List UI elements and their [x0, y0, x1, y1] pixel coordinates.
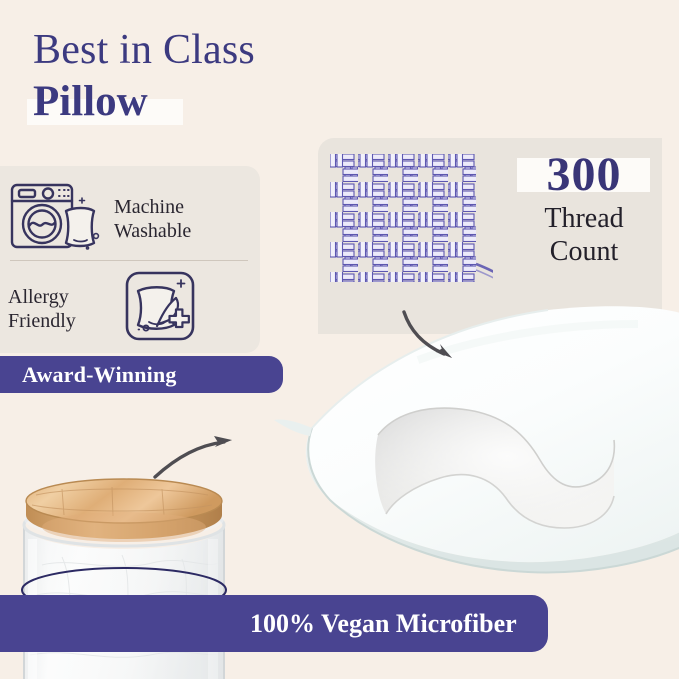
- fabric-weave-swatch-icon: [328, 152, 493, 300]
- thread-count-word-line1: Thread: [514, 202, 654, 235]
- award-winning-banner: Award-Winning: [0, 356, 283, 393]
- allergy-friendly-label-line1: Allergy: [8, 285, 124, 309]
- machine-washable-label-line2: Washable: [114, 219, 191, 243]
- infographic-canvas: 300 Thread Count Best in Class Pillow: [0, 0, 679, 679]
- feature-divider: [10, 260, 248, 261]
- allergy-pillow-feather-icon: [124, 270, 196, 347]
- thread-count-number: 300: [514, 148, 654, 202]
- pillow-image: [218, 300, 679, 610]
- feature-allergy-friendly: Allergy Friendly: [8, 270, 196, 347]
- thread-count-word-line2: Count: [514, 235, 654, 268]
- vegan-microfiber-label: 100% Vegan Microfiber: [250, 609, 517, 639]
- headline-line-2: Pillow: [33, 78, 453, 125]
- vegan-microfiber-banner: 100% Vegan Microfiber: [0, 595, 548, 652]
- washing-machine-icon: [8, 180, 100, 257]
- thread-count-text-block: 300 Thread Count: [514, 148, 654, 268]
- machine-washable-label-line1: Machine: [114, 195, 191, 219]
- award-winning-label: Award-Winning: [22, 362, 177, 388]
- page-title: Best in Class Pillow: [33, 26, 453, 128]
- headline-line-1: Best in Class: [33, 26, 453, 74]
- feature-machine-washable: Machine Washable: [8, 180, 191, 257]
- allergy-friendly-label-line2: Friendly: [8, 309, 124, 333]
